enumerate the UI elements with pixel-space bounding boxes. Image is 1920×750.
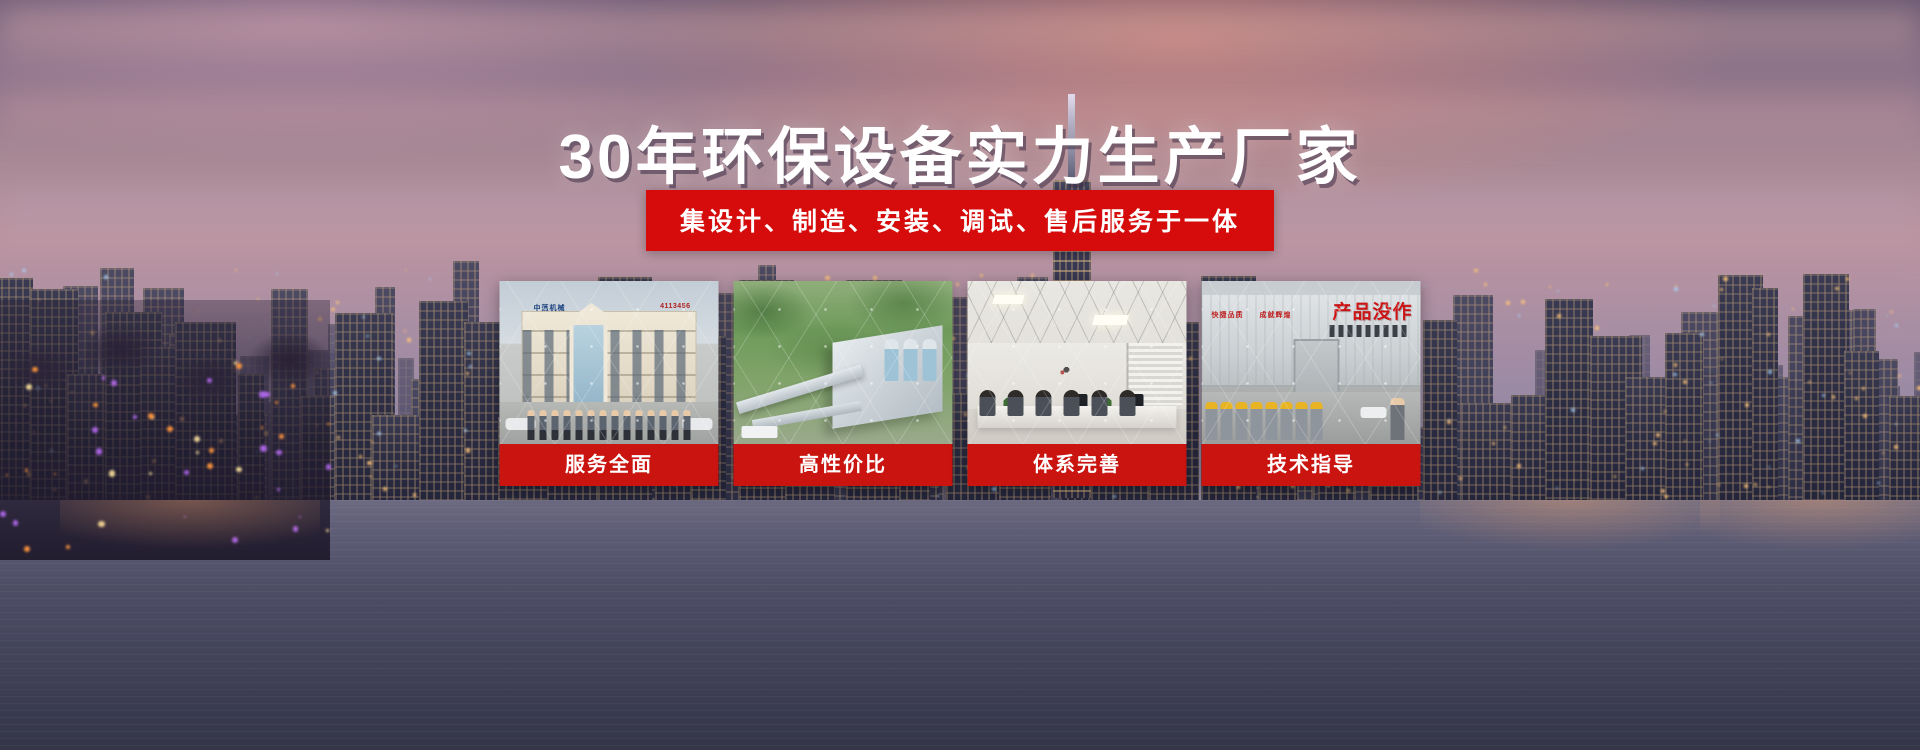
feature-card-list: 中蕰机械 4113456 服务全面 [500, 281, 1421, 486]
ceiling-lamp [1092, 315, 1129, 325]
people-seated [980, 390, 1136, 416]
factory-window-strip [1330, 325, 1408, 337]
hero-banner: 30年环保设备实力生产厂家 集设计、制造、安装、调试、售后服务于一体 中蕰机械 … [0, 0, 1920, 750]
factory-sign-text: 产品没作 [1332, 297, 1412, 324]
company-phone-text: 4113456 [660, 303, 690, 310]
parked-car [1361, 407, 1387, 418]
office-interior-meeting-photo [968, 281, 1187, 444]
feature-card[interactable]: 体系完善 [968, 281, 1187, 486]
staff-lineup [528, 410, 691, 440]
factory-door [1294, 339, 1340, 397]
silo-group [885, 339, 937, 381]
worker-group [1206, 402, 1323, 440]
page-title: 30年环保设备实力生产厂家 [0, 106, 1920, 196]
factory-slogan-two: 成就辉煌 [1260, 311, 1292, 322]
feature-card[interactable]: 高性价比 [734, 281, 953, 486]
factory-slogan-one: 快捷品质 [1212, 311, 1244, 322]
ceiling-grid [968, 281, 1187, 345]
feature-card-label: 高性价比 [734, 444, 953, 486]
subtitle-container: 集设计、制造、安装、调试、售后服务于一体 [646, 190, 1274, 251]
ceiling-lamp [992, 295, 1025, 304]
supervisor-figure [1391, 398, 1405, 440]
company-sign-text: 中蕰机械 [534, 303, 566, 313]
subtitle-badge: 集设计、制造、安装、调试、售后服务于一体 [646, 190, 1274, 251]
factory-workers-photo: 产品没作 快捷品质 成就辉煌 [1202, 281, 1421, 444]
banner-content: 30年环保设备实力生产厂家 集设计、制造、安装、调试、售后服务于一体 中蕰机械 … [0, 0, 1920, 750]
aerial-factory-plant-photo [734, 281, 953, 444]
feature-card[interactable]: 中蕰机械 4113456 服务全面 [500, 281, 719, 486]
office-building-staff-photo: 中蕰机械 4113456 [500, 281, 719, 444]
feature-card-label: 技术指导 [1202, 444, 1421, 486]
feature-card-label: 体系完善 [968, 444, 1187, 486]
wall-art [1054, 357, 1080, 379]
feature-card[interactable]: 产品没作 快捷品质 成就辉煌 技术指导 [1202, 281, 1421, 486]
truck [742, 426, 778, 438]
feature-card-label: 服务全面 [500, 444, 719, 486]
building-roof [570, 303, 614, 319]
